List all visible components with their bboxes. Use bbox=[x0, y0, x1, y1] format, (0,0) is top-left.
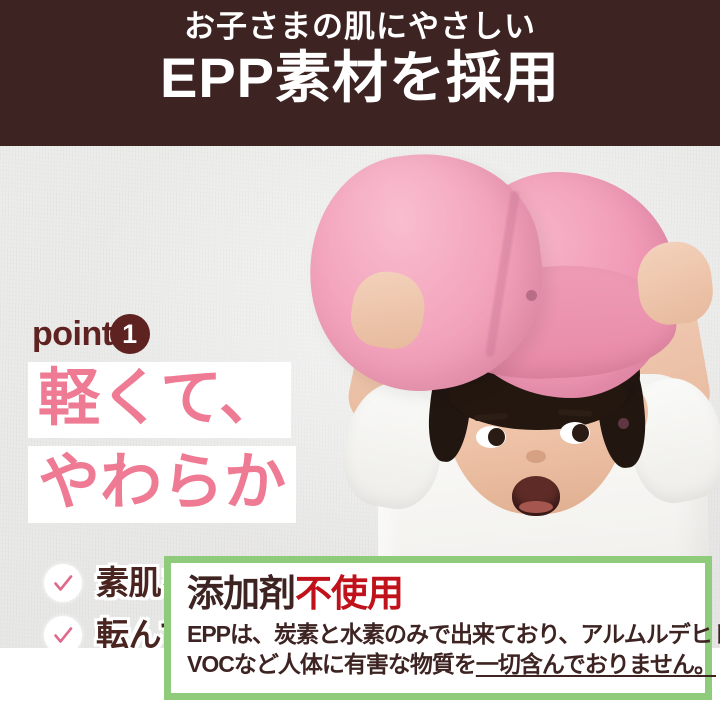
product-feature-banner: お子さまの肌にやさしい EPP素材を採用 bbox=[0, 0, 720, 720]
header-banner: お子さまの肌にやさしい EPP素材を採用 bbox=[0, 0, 720, 146]
helmet-vent-hole bbox=[618, 418, 629, 429]
pupil bbox=[488, 428, 505, 446]
info-title-dark: 添加剤 bbox=[187, 573, 295, 614]
eye-right bbox=[560, 422, 590, 444]
info-box-title: 添加剤不使用 bbox=[187, 575, 689, 614]
feature-headline: 軽くて、 やわらか bbox=[28, 362, 296, 523]
pupil bbox=[572, 424, 589, 442]
nose bbox=[526, 450, 546, 463]
info-body-line-1: EPPは、炭素と水素のみで出来ており、アルムルデヒド、 bbox=[187, 619, 689, 649]
header-subtitle: お子さまの肌にやさしい bbox=[184, 9, 536, 45]
info-body-line-2-underlined: 一切含んでおりません。 bbox=[476, 651, 716, 677]
headline-line-2: やわらか bbox=[28, 446, 296, 522]
info-body-line-2-plain: VOCなど人体に有害な物質を bbox=[187, 651, 476, 677]
additive-free-info-box: 添加剤不使用 EPPは、炭素と水素のみで出来ており、アルムルデヒド、 VOCなど… bbox=[164, 556, 712, 700]
info-title-red: 不使用 bbox=[295, 573, 403, 614]
point-badge: point 1 bbox=[32, 314, 150, 354]
point-label: point bbox=[32, 317, 113, 351]
info-box-body: EPPは、炭素と水素のみで出来ており、アルムルデヒド、 VOCなど人体に有害な物… bbox=[187, 619, 689, 680]
header-title: EPP素材を採用 bbox=[160, 47, 560, 110]
mouth-open bbox=[512, 476, 560, 516]
info-body-line-2: VOCなど人体に有害な物質を一切含んでおりません。 bbox=[187, 649, 689, 679]
eye-left bbox=[476, 426, 506, 448]
helmet-vent-hole bbox=[526, 290, 537, 301]
headline-line-1: 軽くて、 bbox=[28, 362, 291, 438]
check-icon bbox=[44, 616, 82, 648]
check-icon bbox=[44, 564, 82, 602]
point-number-circle: 1 bbox=[110, 314, 150, 354]
